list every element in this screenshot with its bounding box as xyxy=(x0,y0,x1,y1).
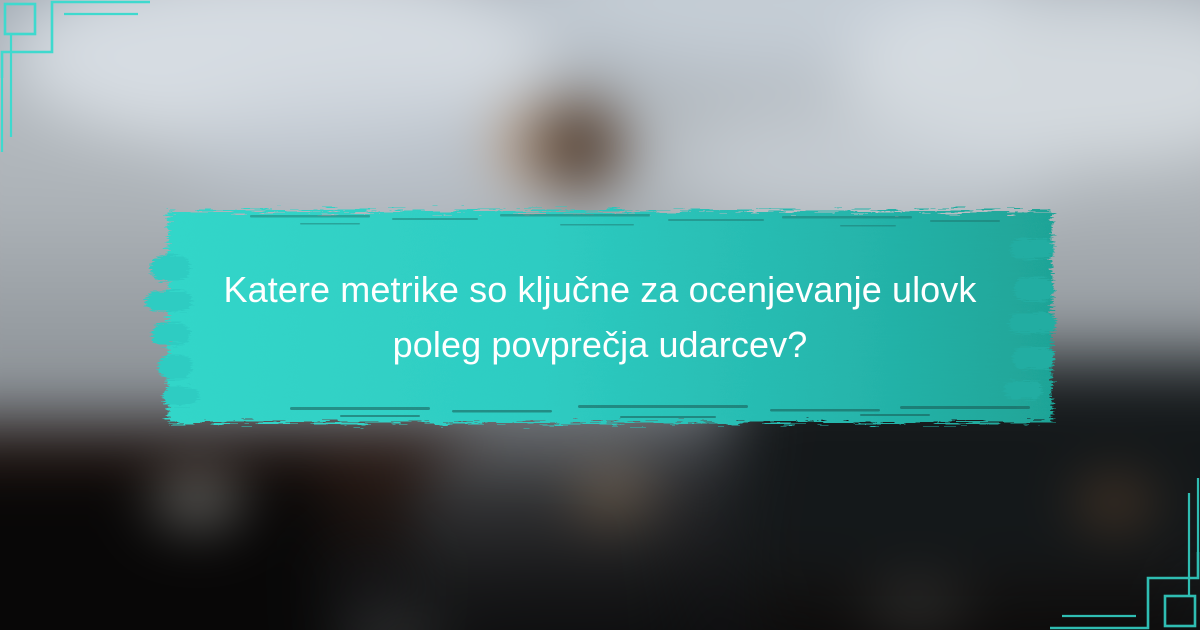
bokeh-highlight xyxy=(574,473,653,518)
brush-stroke-banner xyxy=(0,195,1200,440)
bokeh-highlight xyxy=(864,585,970,630)
figure-head xyxy=(534,98,626,196)
og-image-card: Katere metrike so ključne za ocenjevanje… xyxy=(0,0,1200,630)
bokeh-highlight xyxy=(151,473,243,526)
bokeh-highlight xyxy=(1075,480,1154,525)
